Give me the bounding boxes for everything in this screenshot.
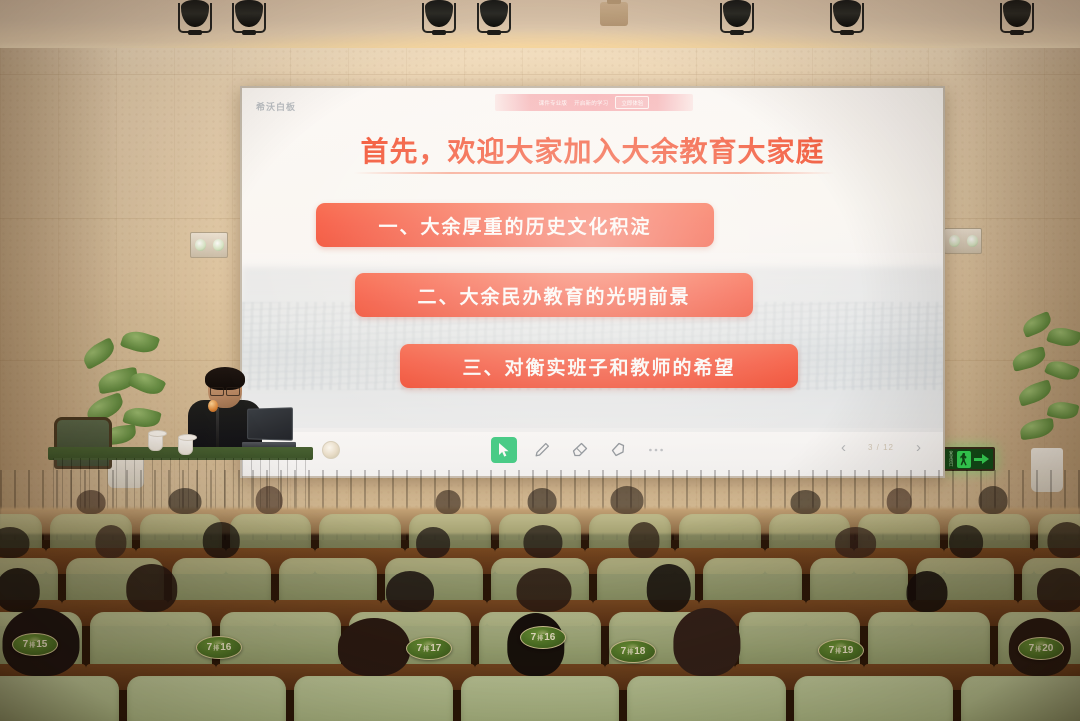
audience-head — [203, 522, 239, 558]
emergency-exit-sign: 安全出口 — [943, 447, 995, 471]
slide-navigation: ‹ 3 / 12 › — [841, 440, 921, 455]
stage-spotlight — [830, 0, 864, 34]
audience-seat — [0, 676, 119, 721]
slide-item-3: 三、对衡实班子和教师的希望 — [400, 344, 798, 388]
seat-back — [627, 676, 786, 721]
projection-screen-frame: 希沃白板 课件专业版 开启新的学习 立即体验 首先，欢迎大家加入大余教育大家庭 … — [240, 86, 945, 478]
audience-seating — [0, 500, 1080, 721]
audience-seat — [127, 676, 286, 721]
seat-number-plaque: 7排15 — [12, 633, 58, 656]
seat-back — [294, 676, 453, 721]
stage-spotlight — [422, 0, 456, 34]
audience-seat — [627, 676, 786, 721]
ceiling-downlight — [600, 2, 628, 26]
audience-seat — [172, 558, 270, 612]
potted-plant-right — [1004, 310, 1080, 492]
audience-head — [629, 522, 660, 558]
ceiling — [0, 0, 1080, 52]
wall-emergency-light-left — [190, 232, 228, 258]
teacup-left — [148, 432, 163, 451]
audience-head — [338, 618, 410, 676]
seat-number-plaque: 7排17 — [406, 637, 452, 660]
audience-head — [887, 488, 912, 514]
audience-head — [673, 608, 740, 676]
audience-head — [96, 525, 127, 558]
audience-row — [0, 676, 1080, 721]
chevron-left-icon[interactable]: ‹ — [841, 440, 846, 455]
more-options-icon[interactable] — [643, 437, 669, 463]
seat-back — [794, 676, 953, 721]
audience-head — [0, 568, 40, 612]
audience-head — [523, 525, 562, 558]
seat-back — [127, 676, 286, 721]
projection-screen: 希沃白板 课件专业版 开启新的学习 立即体验 首先，欢迎大家加入大余教育大家庭 … — [242, 88, 943, 476]
banner-text-1: 课件专业版 — [539, 99, 568, 107]
audience-head — [256, 486, 283, 514]
audience-head — [76, 490, 105, 514]
chevron-right-icon[interactable]: › — [916, 440, 921, 455]
audience-seat — [461, 676, 620, 721]
slide-title-underline — [354, 172, 834, 174]
presenter-glasses — [210, 387, 240, 394]
audience-seat — [90, 612, 212, 676]
audience-seat — [810, 558, 908, 612]
app-badge-icon[interactable] — [322, 441, 340, 459]
auditorium-scene: 安全出口 希沃白板 课件专业版 开启新的学习 立即体验 — [0, 0, 1080, 721]
audience-head — [979, 486, 1008, 514]
seat-back — [0, 676, 119, 721]
slide-item-1: 一、大余厚重的历史文化积淀 — [316, 203, 714, 247]
exit-sign-cn-text: 安全出口 — [948, 451, 954, 468]
stage-spotlight — [477, 0, 511, 34]
audience-head — [436, 490, 461, 514]
running-man-icon — [957, 451, 971, 468]
audience-seat — [679, 514, 761, 560]
audience-head — [528, 488, 557, 514]
annotation-tools — [491, 437, 669, 463]
stage-spotlight — [1000, 0, 1034, 34]
audience-seat — [868, 612, 990, 676]
audience-head — [416, 527, 450, 558]
audience-seat — [961, 676, 1080, 721]
audience-seat — [294, 676, 453, 721]
banner-cta-button[interactable]: 立即体验 — [615, 96, 649, 108]
audience-head — [517, 568, 572, 612]
seat-number-plaque: 7排16 — [196, 636, 242, 659]
seat-number-plaque: 7排19 — [818, 639, 864, 662]
audience-head — [647, 564, 692, 612]
audience-head — [610, 486, 643, 514]
audience-head — [907, 571, 948, 612]
audience-head — [1047, 522, 1080, 558]
laptop — [242, 408, 294, 450]
audience-head — [1037, 568, 1080, 612]
slide-promo-banner[interactable]: 课件专业版 开启新的学习 立即体验 — [495, 94, 693, 111]
audience-seat — [319, 514, 401, 560]
stage-spotlight — [178, 0, 212, 34]
pen-icon[interactable] — [529, 437, 555, 463]
seat-number-plaque: 7排20 — [1018, 637, 1064, 660]
stage-spotlight — [232, 0, 266, 34]
stage-spotlight — [720, 0, 754, 34]
seat-back — [461, 676, 620, 721]
microphone — [213, 400, 223, 452]
audience-seat — [230, 514, 312, 560]
seat-back — [961, 676, 1080, 721]
teacup-right — [178, 436, 193, 455]
slide-item-2: 二、大余民办教育的光明前景 — [355, 273, 753, 317]
audience-head — [835, 527, 877, 558]
arrow-right-icon — [974, 453, 990, 465]
audience-head — [949, 525, 983, 558]
audience-head — [126, 564, 178, 612]
banner-text-2: 开启新的学习 — [574, 99, 608, 107]
slide-title: 首先，欢迎大家加入大余教育大家庭 — [242, 130, 943, 170]
audience-head — [168, 488, 201, 514]
seat-number-plaque: 7排16 — [520, 626, 566, 649]
audience-head — [790, 490, 821, 514]
audience-seat — [794, 676, 953, 721]
select-cursor-icon[interactable] — [491, 437, 517, 463]
highlighter-icon[interactable] — [567, 437, 593, 463]
seat-number-plaque: 7排18 — [610, 640, 656, 663]
audience-seat — [703, 558, 801, 612]
wall-emergency-light-right — [944, 228, 982, 254]
audience-head — [386, 571, 434, 612]
slide-logo: 希沃白板 — [256, 100, 296, 113]
page-indicator: 3 / 12 — [868, 443, 894, 452]
audience-seat — [279, 558, 377, 612]
eraser-icon[interactable] — [605, 437, 631, 463]
